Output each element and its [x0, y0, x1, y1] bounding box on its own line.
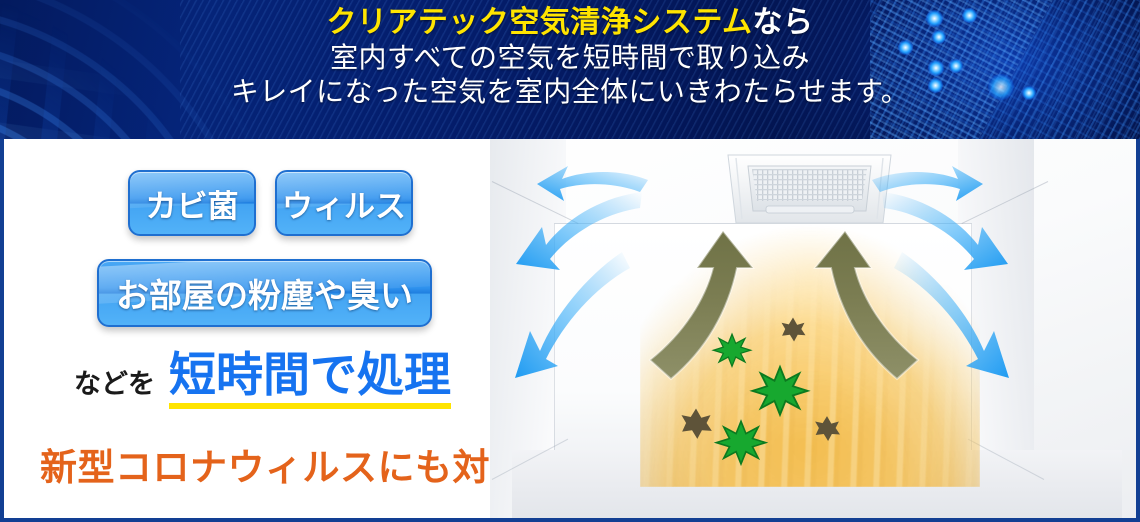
headline-line-1: クリアテック空気清浄システムなら [0, 8, 1140, 38]
headline-line-1-tail: なら [753, 6, 814, 39]
banner-body: カビ菌 ウィルス お部屋の粉塵や臭い などを 短時間で処理 新型コロナウィルスに… [0, 139, 1140, 522]
headline-line-2: 室内すべての空気を短時間で取り込み [0, 44, 1140, 72]
room-airflow-illustration [490, 139, 1140, 522]
process-statement: などを 短時間で処理 [74, 352, 451, 409]
tag-mold-label: カビ菌 [146, 181, 239, 226]
dust-particle-icon [815, 416, 840, 441]
germ-particle-icon [713, 334, 750, 366]
tag-dust-label: お部屋の粉塵や臭い [116, 269, 413, 317]
covid-support-note: 新型コロナウィルスにも対応 [40, 437, 528, 491]
banner-header: クリアテック空気清浄システムなら 室内すべての空気を短時間で取り込み キレイにな… [0, 0, 1140, 139]
process-emphasis: 短時間で処理 [169, 352, 451, 409]
headline-line-3: キレイになった空気を室内全体にいきわたらせます。 [0, 78, 1140, 106]
germ-particle-icon [752, 367, 807, 415]
tag-virus-label: ウィルス [282, 181, 406, 226]
headline-product-name: クリアテック空気清浄システム [326, 6, 752, 39]
air-purifier-promo-banner: クリアテック空気清浄システムなら 室内すべての空気を短時間で取り込み キレイにな… [0, 0, 1140, 522]
airflow-arrows-overlay [490, 139, 1140, 522]
process-prefix: などを [74, 362, 155, 409]
germ-particle-icon [716, 421, 765, 464]
dust-particle-icon [681, 408, 711, 438]
clean-air-arrow-left-3 [515, 252, 630, 378]
header-headline: クリアテック空気清浄システムなら 室内すべての空気を短時間で取り込み キレイにな… [0, 8, 1140, 106]
tag-dust: お部屋の粉塵や臭い [97, 259, 432, 327]
dust-particle-icon [782, 318, 806, 342]
tag-mold: カビ菌 [128, 170, 256, 236]
tag-virus: ウィルス [275, 170, 413, 236]
